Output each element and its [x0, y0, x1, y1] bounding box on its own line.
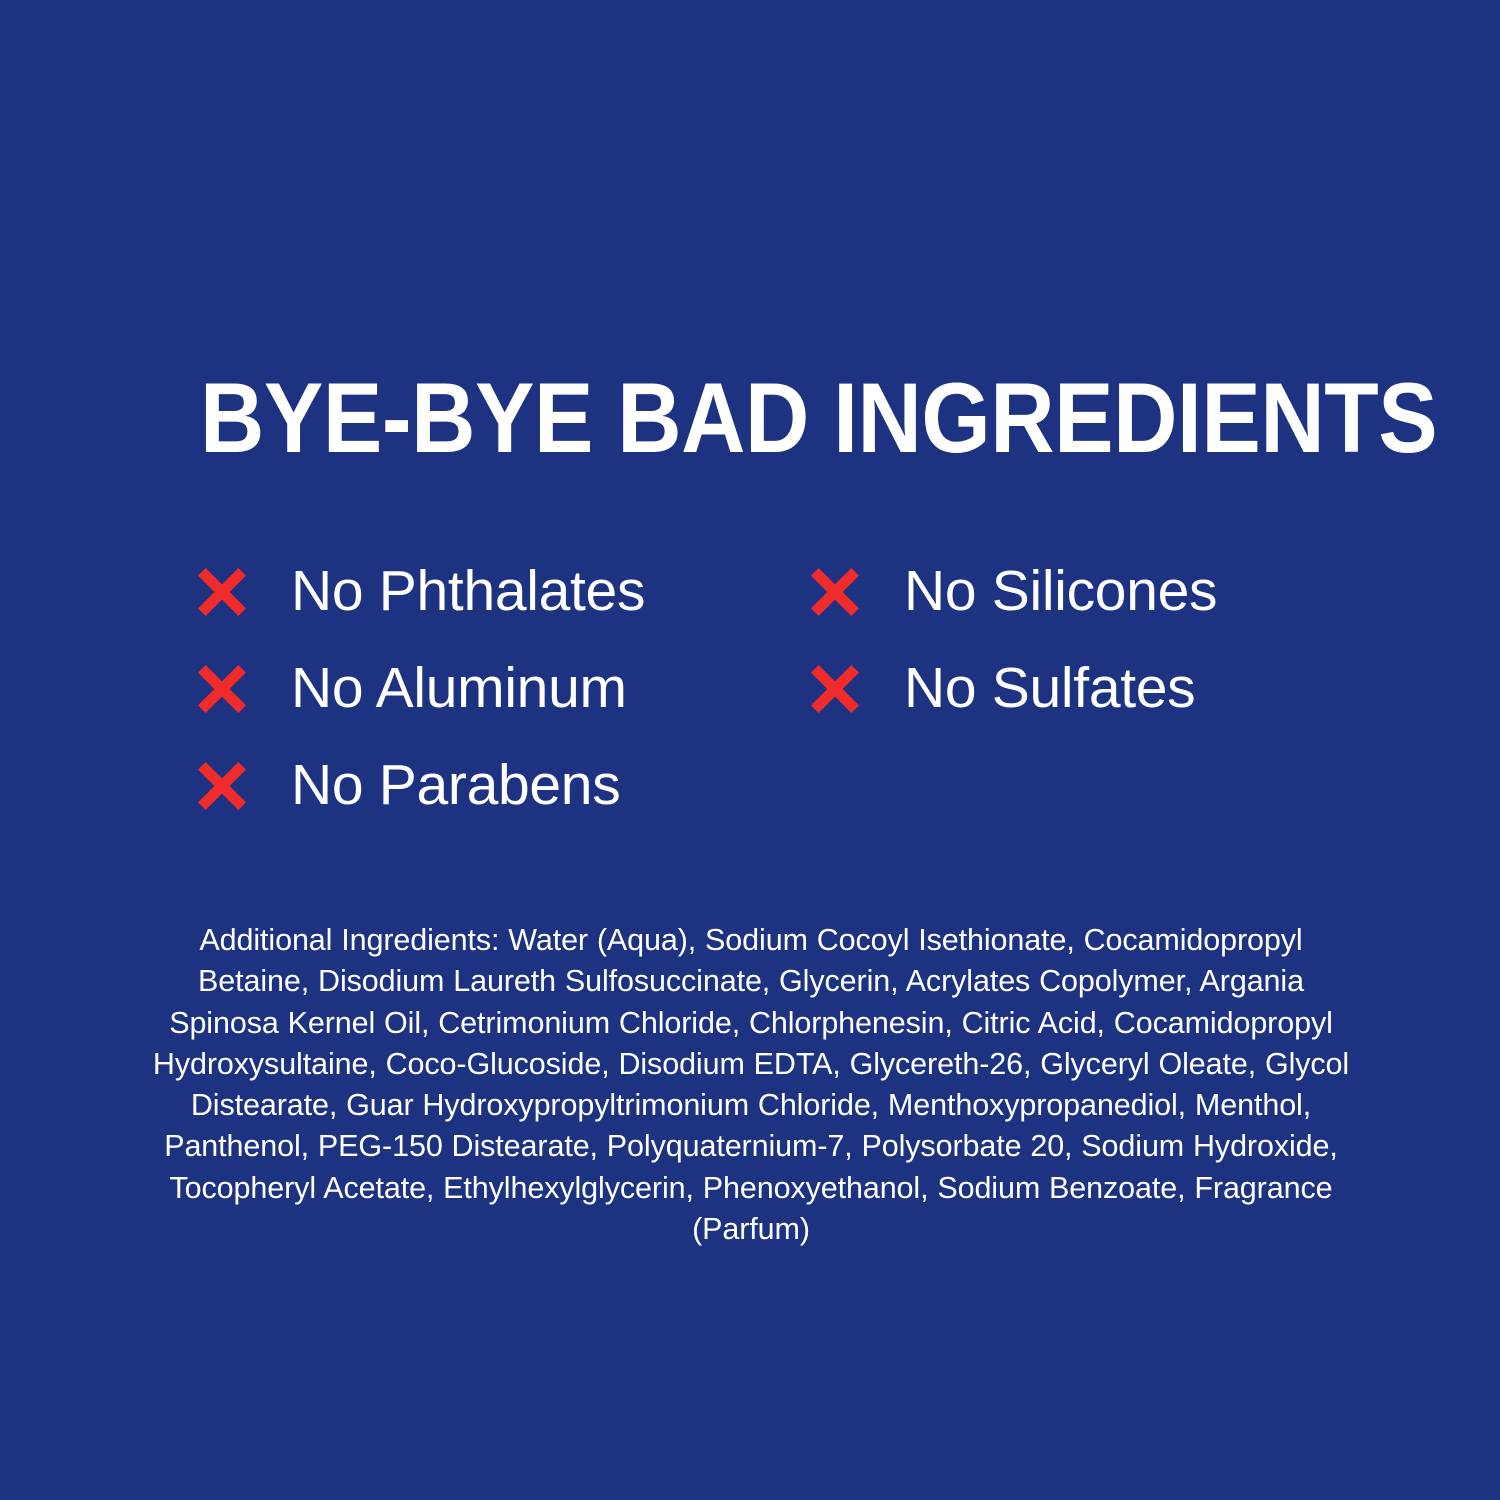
claim-item: No Aluminum — [196, 640, 645, 737]
red-x-icon — [196, 760, 248, 812]
claims-column-right: No Silicones No Sulfates — [809, 543, 1217, 737]
page-title-text: BYE-BYE BAD INGREDIENTS — [200, 368, 1437, 467]
claim-label: No Aluminum — [291, 660, 627, 717]
claim-item: No Sulfates — [809, 640, 1217, 737]
red-x-icon — [196, 663, 248, 715]
red-x-icon — [809, 663, 861, 715]
claim-label: No Sulfates — [904, 660, 1195, 717]
page-title: BYE-BYE BAD INGREDIENTS — [200, 368, 1340, 464]
claim-item: No Parabens — [196, 737, 645, 834]
red-x-icon — [196, 566, 248, 618]
ingredient-claims-panel: BYE-BYE BAD INGREDIENTS No Phthalates — [0, 0, 1500, 1500]
claim-label: No Parabens — [291, 757, 620, 814]
claim-item: No Silicones — [809, 543, 1217, 640]
additional-ingredients-text: Additional Ingredients: Water (Aqua), So… — [148, 920, 1354, 1250]
claims-column-left: No Phthalates No Aluminum No Parabens — [196, 543, 645, 834]
claim-label: No Silicones — [904, 563, 1217, 620]
claim-label: No Phthalates — [291, 563, 645, 620]
red-x-icon — [809, 566, 861, 618]
claim-item: No Phthalates — [196, 543, 645, 640]
